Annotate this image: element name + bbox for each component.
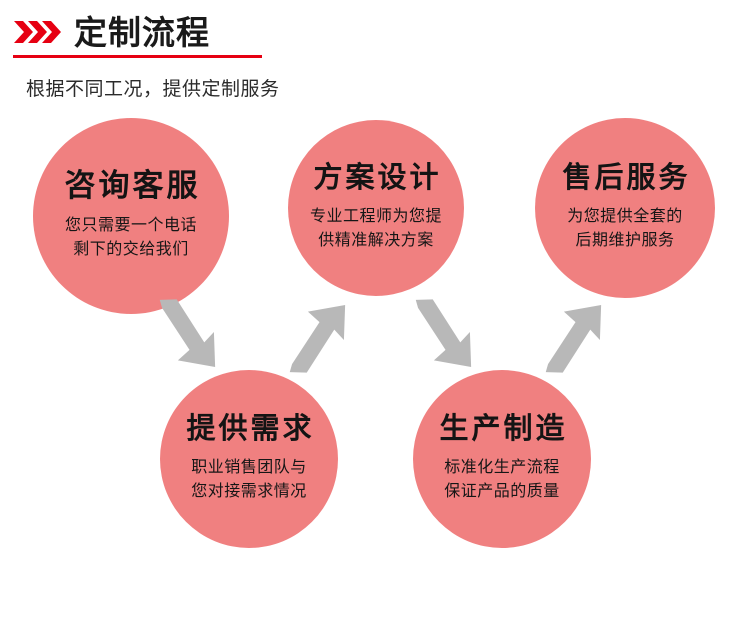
- flow-step-circle-5[interactable]: 生产制造 标准化生产流程 保证产品的质量: [413, 370, 591, 548]
- flow-step-description-line-1: 您只需要一个电话: [65, 214, 197, 238]
- flow-step-description-line-1: 专业工程师为您提: [310, 205, 442, 229]
- flow-step-circle-4[interactable]: 提供需求 职业销售团队与 您对接需求情况: [160, 370, 338, 548]
- flow-step-circle-1[interactable]: 咨询客服 您只需要一个电话 剩下的交给我们: [33, 118, 229, 314]
- flow-step-circle-2[interactable]: 方案设计 专业工程师为您提 供精准解决方案: [288, 120, 464, 296]
- double-chevron-right-icon: [14, 19, 62, 45]
- flow-step-description-line-2: 供精准解决方案: [310, 229, 442, 253]
- flow-step-description-line-2: 您对接需求情况: [191, 480, 307, 504]
- flow-step-description-line-2: 保证产品的质量: [444, 480, 560, 504]
- customization-process-infographic: 定制流程 根据不同工况，提供定制服务 咨询客服 您只需要一个电话 剩下的交给我们…: [0, 0, 750, 623]
- arrow-up-right-icon: [538, 300, 608, 379]
- flow-step-description: 您只需要一个电话 剩下的交给我们: [65, 214, 197, 262]
- flow-step-description: 标准化生产流程 保证产品的质量: [444, 456, 560, 504]
- flow-step-title: 咨询客服: [62, 170, 201, 203]
- arrow-down-right-icon: [152, 298, 222, 377]
- flow-step-description-line-1: 为您提供全套的: [567, 205, 683, 229]
- flow-step-description: 专业工程师为您提 供精准解决方案: [310, 205, 442, 253]
- title-row: 定制流程: [14, 10, 210, 54]
- flow-step-title: 售后服务: [559, 163, 690, 193]
- flow-step-description-line-1: 职业销售团队与: [191, 456, 307, 480]
- page-subtitle: 根据不同工况，提供定制服务: [26, 74, 280, 101]
- arrow-down-right-icon: [408, 298, 478, 377]
- flow-step-description: 职业销售团队与 您对接需求情况: [191, 456, 307, 504]
- title-underline-rule: [13, 55, 262, 58]
- flow-step-description-line-2: 剩下的交给我们: [65, 238, 197, 262]
- arrow-up-right-icon: [282, 300, 352, 379]
- page-header: 定制流程 根据不同工况，提供定制服务: [0, 0, 750, 105]
- flow-step-title: 方案设计: [310, 163, 441, 193]
- flow-step-description-line-2: 后期维护服务: [567, 229, 683, 253]
- flow-step-circle-3[interactable]: 售后服务 为您提供全套的 后期维护服务: [535, 118, 715, 298]
- flow-step-title: 生产制造: [436, 414, 567, 444]
- page-title: 定制流程: [74, 16, 210, 49]
- flow-step-description: 为您提供全套的 后期维护服务: [567, 205, 683, 253]
- flow-step-title: 提供需求: [183, 414, 314, 444]
- flow-step-description-line-1: 标准化生产流程: [444, 456, 560, 480]
